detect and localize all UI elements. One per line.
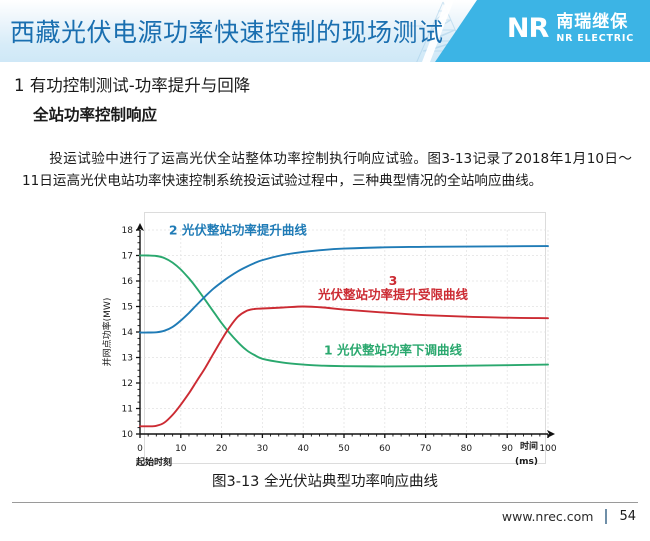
svg-text:14: 14 — [122, 328, 134, 338]
body-paragraph: 投运试验中进行了运高光伏全站整体功率控制执行响应试验。图3-13记录了2018年… — [22, 148, 632, 192]
svg-text:20: 20 — [216, 444, 228, 454]
svg-text:17: 17 — [122, 252, 133, 262]
svg-text:40: 40 — [297, 444, 309, 454]
figure-caption: 图3-13 全光伏站典型功率响应曲线 — [0, 470, 650, 491]
footer-separator — [605, 509, 607, 524]
series-number-3: 3 — [389, 273, 398, 288]
power-response-chart: 1011121314151617180102030405060708090100… — [96, 212, 556, 470]
footer: www.nrec.com 54 — [502, 509, 636, 524]
x-axis-title: 时间 — [520, 440, 538, 452]
series-label-1: 1 光伏整站功率下调曲线 — [324, 342, 463, 357]
svg-text:13: 13 — [122, 354, 133, 364]
svg-text:100: 100 — [539, 444, 556, 454]
logo-name-en: NR ELECTRIC — [556, 34, 634, 44]
page-number: 54 — [619, 509, 636, 524]
company-logo: NR 南瑞继保 NR ELECTRIC — [507, 14, 634, 44]
svg-text:10: 10 — [122, 430, 134, 440]
section-heading: 1 有功控制测试-功率提升与回降 — [14, 72, 250, 96]
origin-note: 起始时刻 — [135, 456, 172, 468]
page-title: 西藏光伏电源功率快速控制的现场测试 — [10, 13, 444, 49]
svg-text:(ms): (ms) — [515, 457, 538, 467]
footer-url: www.nrec.com — [502, 509, 594, 524]
svg-text:70: 70 — [420, 444, 432, 454]
svg-text:60: 60 — [379, 444, 391, 454]
svg-text:0: 0 — [137, 444, 143, 454]
svg-text:18: 18 — [122, 226, 134, 236]
logo-wordmark: 南瑞继保 NR ELECTRIC — [556, 14, 634, 44]
subsection-heading: 全站功率控制响应 — [33, 103, 157, 125]
svg-text:90: 90 — [501, 444, 513, 454]
svg-text:80: 80 — [461, 444, 473, 454]
svg-text:12: 12 — [122, 379, 133, 389]
svg-text:50: 50 — [338, 444, 350, 454]
y-axis-title: 并网点功率(MW) — [101, 298, 113, 367]
logo-name-cn: 南瑞继保 — [556, 14, 634, 31]
svg-text:16: 16 — [122, 277, 134, 287]
footer-divider — [12, 502, 638, 503]
svg-text:15: 15 — [122, 303, 133, 313]
header-banner: 西藏光伏电源功率快速控制的现场测试 NR 南瑞继保 NR ELECTRIC — [0, 0, 650, 62]
series-label-3: 光伏整站功率提升受限曲线 — [317, 287, 469, 302]
svg-text:10: 10 — [175, 444, 187, 454]
svg-text:30: 30 — [257, 444, 269, 454]
svg-text:11: 11 — [122, 405, 133, 415]
series-label-2: 2 光伏整站功率提升曲线 — [169, 223, 308, 238]
logo-mark-icon: NR — [507, 15, 548, 42]
